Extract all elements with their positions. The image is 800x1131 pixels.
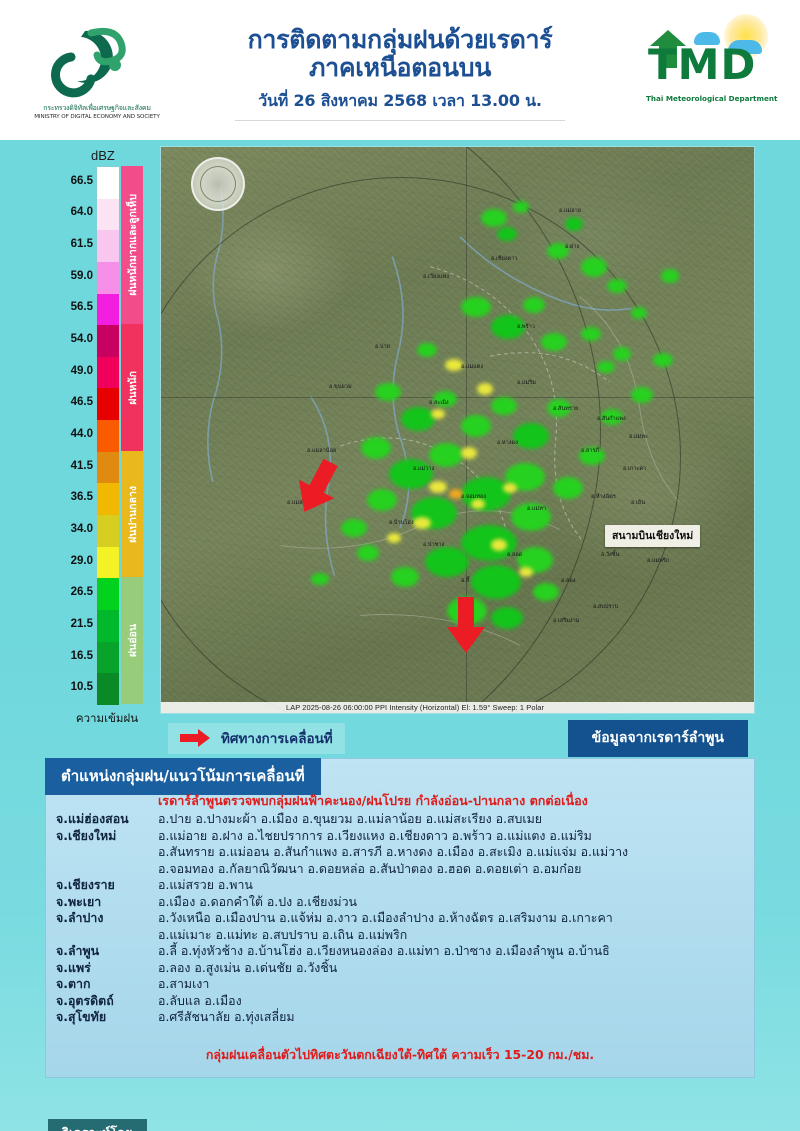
dbz-band xyxy=(97,547,119,579)
page-title-line1: การติดตามกลุ่มฝนด้วยเรดาร์ xyxy=(185,26,615,54)
district-line: อ.แม่เมาะ อ.แม่ทะ อ.สบปราบ อ.เถิน อ.แม่พ… xyxy=(158,927,613,944)
map-place-label: อ.สันทราย xyxy=(553,405,578,413)
dbz-unit-label: dBZ xyxy=(91,148,115,163)
map-place-label: อ.จอมทอง xyxy=(461,493,486,501)
dbz-tick: 29.0 xyxy=(55,555,93,567)
district-line: อ.ลับแล อ.เมือง xyxy=(158,993,242,1010)
dbz-band xyxy=(97,642,119,674)
rain-category-label: ฝนปานกลาง xyxy=(124,486,141,543)
map-place-label: อ.ฮอด xyxy=(507,551,522,559)
map-place-label: อ.เกาะคา xyxy=(623,465,646,473)
echo-cell xyxy=(653,353,673,367)
echo-cell xyxy=(519,567,533,577)
red-arrow-icon xyxy=(178,728,212,748)
echo-cell xyxy=(497,227,517,241)
map-place-label: อ.เถิน xyxy=(631,499,645,507)
dbz-tick: 64.0 xyxy=(55,206,93,218)
mdes-logo-caption: กระทรวงดิจิทัลเพื่อเศรษฐกิจและสังคม MINI… xyxy=(34,103,160,120)
echo-cell xyxy=(391,567,419,587)
echo-cell xyxy=(581,327,601,341)
province-name: จ.แพร่ xyxy=(54,960,158,977)
district-line: อ.วังเหนือ อ.เมืองปาน อ.แจ้ห่ม อ.งาว อ.เ… xyxy=(158,910,613,927)
province-row: จ.แพร่อ.ลอง อ.สูงเม่น อ.เด่นชัย อ.วังชิ้… xyxy=(54,960,748,977)
echo-cell xyxy=(429,481,447,493)
tmd-subtitle: Thai Meteorological Department xyxy=(646,94,777,103)
dbz-tick: 61.5 xyxy=(55,238,93,250)
district-list: อ.ลับแล อ.เมือง xyxy=(158,993,242,1010)
map-place-label: อ.แม่ทะ xyxy=(629,433,648,441)
tmd-logo: TMD Thai Meteorological Department xyxy=(642,14,782,126)
map-place-label: อ.ปาย xyxy=(375,343,390,351)
map-place-label: อ.แม่ริม xyxy=(517,379,536,387)
echo-cell xyxy=(513,201,529,213)
page-datetime: วันที่ 26 สิงหาคม 2568 เวลา 13.00 น. xyxy=(185,89,615,114)
district-list: อ.สามเงา xyxy=(158,976,209,993)
district-list: อ.แม่สรวย อ.พาน xyxy=(158,877,253,894)
echo-cell xyxy=(541,333,567,351)
province-district-table: จ.แม่ฮ่องสอนอ.ปาย อ.ปางมะผ้า อ.เมือง อ.ข… xyxy=(54,811,748,1026)
echo-cell xyxy=(461,297,491,317)
detail-panel-title: ตำแหน่งกลุ่มฝน/แนวโน้มการเคลื่อนที่ xyxy=(45,758,321,795)
dbz-tick: 41.5 xyxy=(55,460,93,472)
district-list: อ.ศรีสัชนาลัย อ.ทุ่งเสลี่ยม xyxy=(158,1009,295,1026)
district-list: อ.วังเหนือ อ.เมืองปาน อ.แจ้ห่ม อ.งาว อ.เ… xyxy=(158,910,613,943)
echo-cell xyxy=(613,347,631,361)
mdes-logo-mark xyxy=(51,23,143,101)
map-place-label: อ.วังชิ้น xyxy=(601,551,619,559)
dbz-tick: 59.0 xyxy=(55,270,93,282)
echo-cell xyxy=(631,307,647,319)
map-place-label: อ.ป่าซาง xyxy=(423,541,444,549)
echo-cell xyxy=(477,383,493,395)
echo-cell xyxy=(387,533,401,543)
echo-cell xyxy=(429,443,463,467)
map-place-label: อ.ลอง xyxy=(561,577,575,585)
province-row: จ.สุโขทัยอ.ศรีสัชนาลัย อ.ทุ่งเสลี่ยม xyxy=(54,1009,748,1026)
echo-cell xyxy=(367,489,397,511)
movement-summary: กลุ่มฝนเคลื่อนตัวไปทิศตะวันตกเฉียงใต้-ทิ… xyxy=(46,1046,754,1065)
echo-cell xyxy=(631,387,653,403)
district-line: อ.สันทราย อ.แม่ออน อ.สันกำแพง อ.สารภี อ.… xyxy=(158,844,628,861)
rain-category-label: ฝนหนักมากและลูกเห็บ xyxy=(124,194,141,296)
echo-cell xyxy=(431,409,445,419)
echo-cell xyxy=(357,545,379,561)
echo-cell xyxy=(503,483,517,493)
echo-cell xyxy=(661,269,679,283)
direction-legend-label: ทิศทางการเคลื่อนที่ xyxy=(221,727,333,749)
dbz-tick: 26.5 xyxy=(55,586,93,598)
district-line: อ.จอมทอง อ.กัลยาณิวัฒนา อ.ดอยหล่อ อ.สันป… xyxy=(158,861,628,878)
province-row: จ.ลำปางอ.วังเหนือ อ.เมืองปาน อ.แจ้ห่ม อ.… xyxy=(54,910,748,943)
map-place-label: อ.ฝาง xyxy=(565,243,579,251)
echo-cell xyxy=(425,547,469,577)
province-name: จ.อุตรดิตถ์ xyxy=(54,993,158,1010)
mdes-logo: กระทรวงดิจิทัลเพื่อเศรษฐกิจและสังคม MINI… xyxy=(22,12,172,130)
echo-cell xyxy=(311,573,329,585)
airport-label: สนามบินเชียงใหม่ xyxy=(605,525,700,547)
map-place-label: อ.แม่อาย xyxy=(559,207,581,215)
movement-arrow-southwest-icon xyxy=(289,457,345,519)
echo-cell xyxy=(513,423,549,449)
province-name: จ.เชียงราย xyxy=(54,877,158,894)
dbz-band xyxy=(97,673,119,705)
province-name: จ.แม่ฮ่องสอน xyxy=(54,811,158,828)
echo-cell xyxy=(553,477,583,499)
analyst-chip-label: วิเคราะห์โดย xyxy=(48,1119,147,1131)
dbz-band xyxy=(97,262,119,294)
rain-category-label: ฝนอ่อน xyxy=(124,624,141,657)
dbz-tick: 54.0 xyxy=(55,333,93,345)
rain-category: ฝนปานกลาง xyxy=(121,451,143,578)
district-line: อ.ลอง อ.สูงเม่น อ.เด่นชัย อ.วังชิ้น xyxy=(158,960,337,977)
echo-cell xyxy=(461,415,491,437)
echo-cell xyxy=(565,217,583,231)
dbz-tick: 10.5 xyxy=(55,681,93,693)
echo-cell xyxy=(461,447,477,459)
echo-cell xyxy=(523,297,545,313)
dbz-band xyxy=(97,357,119,389)
map-place-label: อ.สะเมิง xyxy=(429,399,449,407)
district-list: อ.ปาย อ.ปางมะผ้า อ.เมือง อ.ขุนยวม อ.แม่ล… xyxy=(158,811,542,828)
dbz-tick: 66.5 xyxy=(55,175,93,187)
province-row: จ.แม่ฮ่องสอนอ.ปาย อ.ปางมะผ้า อ.เมือง อ.ข… xyxy=(54,811,748,828)
rain-category: ฝนอ่อน xyxy=(121,577,143,704)
district-list: อ.แม่อาย อ.ฝาง อ.ไชยปราการ อ.เวียงแหง อ.… xyxy=(158,828,628,878)
province-name: จ.สุโขทัย xyxy=(54,1009,158,1026)
map-place-label: อ.เชียงดาว xyxy=(491,255,518,263)
dbz-band xyxy=(97,578,119,610)
tmd-seal-watermark-icon xyxy=(191,157,245,211)
dbz-tick: 36.5 xyxy=(55,491,93,503)
echo-cell xyxy=(481,209,507,227)
echo-cell xyxy=(491,539,507,551)
province-row: จ.ตากอ.สามเงา xyxy=(54,976,748,993)
dbz-band xyxy=(97,388,119,420)
dbz-band xyxy=(97,610,119,642)
echo-cell xyxy=(491,397,517,415)
content-body: dBZ 66.564.061.559.056.554.049.046.544.0… xyxy=(0,140,800,1131)
radar-status-bar: LAP 2025-08-26 06:00:00 PPI Intensity (H… xyxy=(161,702,754,713)
district-list: อ.ลี้ อ.ทุ่งหัวช้าง อ.บ้านโฮ่ง อ.เวียงหน… xyxy=(158,943,610,960)
dbz-band xyxy=(97,230,119,262)
echo-cell xyxy=(401,407,435,431)
dbz-tick: 56.5 xyxy=(55,301,93,313)
echo-cell xyxy=(607,279,627,293)
district-list: อ.ลอง อ.สูงเม่น อ.เด่นชัย อ.วังชิ้น xyxy=(158,960,337,977)
map-place-label: อ.สารภี xyxy=(581,447,599,455)
tmd-letters: TMD xyxy=(648,44,756,86)
district-line: อ.ศรีสัชนาลัย อ.ทุ่งเสลี่ยม xyxy=(158,1009,295,1026)
dbz-band xyxy=(97,515,119,547)
district-list: อ.เมือง อ.ดอกคำใต้ อ.ปง อ.เชียงม่วน xyxy=(158,894,357,911)
dbz-band xyxy=(97,420,119,452)
dbz-color-scale: dBZ 66.564.061.559.056.554.049.046.544.0… xyxy=(55,148,160,720)
province-row: จ.อุตรดิตถ์อ.ลับแล อ.เมือง xyxy=(54,993,748,1010)
map-place-label: อ.พร้าว xyxy=(517,323,535,331)
detail-lead-text: เรดาร์ลำพูนตรวจพบกลุ่มฝนฟ้าคะนอง/ฝนโปรย … xyxy=(158,791,588,811)
map-place-label: อ.แม่ลาน้อย xyxy=(307,447,336,455)
radar-image[interactable]: อ.ปายอ.เวียงแหงอ.เชียงดาวอ.ฝางอ.แม่อายอ.… xyxy=(160,146,755,714)
echo-cell xyxy=(491,607,523,629)
dbz-band xyxy=(97,199,119,231)
province-name: จ.ลำปาง xyxy=(54,910,158,927)
dbz-tick: 34.0 xyxy=(55,523,93,535)
echo-cell xyxy=(597,361,615,373)
map-place-label: อ.แม่ทา xyxy=(527,505,546,513)
map-place-label: อ.เสริมงาม xyxy=(553,617,580,625)
province-row: จ.เชียงใหม่อ.แม่อาย อ.ฝาง อ.ไชยปราการ อ.… xyxy=(54,828,748,878)
dbz-tick: 21.5 xyxy=(55,618,93,630)
rain-category-label: ฝนหนัก xyxy=(124,371,141,405)
echo-cell xyxy=(389,459,433,489)
echo-cell xyxy=(533,583,559,601)
echo-cell xyxy=(413,517,431,529)
province-name: จ.พะเยา xyxy=(54,894,158,911)
province-row: จ.เชียงรายอ.แม่สรวย อ.พาน xyxy=(54,877,748,894)
dbz-tick: 44.0 xyxy=(55,428,93,440)
district-line: อ.ลี้ อ.ทุ่งหัวช้าง อ.บ้านโฮ่ง อ.เวียงหน… xyxy=(158,943,610,960)
map-place-label: อ.สบปราบ xyxy=(593,603,618,611)
province-row: จ.ลำพูนอ.ลี้ อ.ทุ่งหัวช้าง อ.บ้านโฮ่ง อ.… xyxy=(54,943,748,960)
rain-detail-panel: ตำแหน่งกลุ่มฝน/แนวโน้มการเคลื่อนที่ เรดา… xyxy=(45,758,755,1078)
dbz-band xyxy=(97,294,119,326)
map-place-label: อ.ห้างฉัตร xyxy=(591,493,616,501)
province-name: จ.เชียงใหม่ xyxy=(54,828,158,845)
rain-category: ฝนหนัก xyxy=(121,324,143,451)
dbz-tick: 46.5 xyxy=(55,396,93,408)
map-place-label: อ.สันกำแพง xyxy=(597,415,626,423)
map-place-label: อ.บ้านโฮ่ง xyxy=(389,519,414,527)
direction-legend: ทิศทางการเคลื่อนที่ xyxy=(168,723,345,754)
dbz-tick: 49.0 xyxy=(55,365,93,377)
echo-cell xyxy=(375,383,401,401)
radar-section: dBZ 66.564.061.559.056.554.049.046.544.0… xyxy=(0,140,800,720)
echo-cell xyxy=(471,565,521,599)
map-place-label: อ.ขุนยวม xyxy=(329,383,352,391)
district-line: อ.ปาย อ.ปางมะผ้า อ.เมือง อ.ขุนยวม อ.แม่ล… xyxy=(158,811,542,828)
legend-bar: ทิศทางการเคลื่อนที่ ข้อมูลจากเรดาร์ลำพูน xyxy=(0,720,800,756)
title-divider xyxy=(235,120,565,121)
header-title-block: การติดตามกลุ่มฝนด้วยเรดาร์ ภาคเหนือตอนบน… xyxy=(185,20,615,121)
district-line: อ.แม่สรวย อ.พาน xyxy=(158,877,253,894)
district-line: อ.สามเงา xyxy=(158,976,209,993)
district-line: อ.แม่อาย อ.ฝาง อ.ไชยปราการ อ.เวียงแหง อ.… xyxy=(158,828,628,845)
map-place-label: อ.ลี้ xyxy=(461,577,469,585)
echo-cell xyxy=(417,343,437,357)
radar-source-badge: ข้อมูลจากเรดาร์ลำพูน xyxy=(568,720,748,757)
province-name: จ.ตาก xyxy=(54,976,158,993)
movement-arrow-south-icon xyxy=(445,595,487,657)
page-title-line2: ภาคเหนือตอนบน xyxy=(185,54,615,82)
dbz-band xyxy=(97,167,119,199)
dbz-tick: 16.5 xyxy=(55,650,93,662)
province-name: จ.ลำพูน xyxy=(54,943,158,960)
dbz-band xyxy=(97,452,119,484)
map-place-label: อ.แม่แตง xyxy=(461,363,483,371)
map-place-label: อ.เวียงแหง xyxy=(423,273,449,281)
dbz-tick-labels: 66.564.061.559.056.554.049.046.544.041.5… xyxy=(55,166,93,704)
district-line: อ.เมือง อ.ดอกคำใต้ อ.ปง อ.เชียงม่วน xyxy=(158,894,357,911)
mdes-caption-en: MINISTRY OF DIGITAL ECONOMY AND SOCIETY xyxy=(34,114,160,120)
rain-category: ฝนหนักมากและลูกเห็บ xyxy=(121,166,143,324)
page-header: กระทรวงดิจิทัลเพื่อเศรษฐกิจและสังคม MINI… xyxy=(0,0,800,140)
dbz-band xyxy=(97,325,119,357)
echo-cell xyxy=(581,257,607,277)
mdes-caption-th: กระทรวงดิจิทัลเพื่อเศรษฐกิจและสังคม xyxy=(34,103,160,114)
map-place-label: อ.แม่พริก xyxy=(647,557,669,565)
dbz-gradient-bar xyxy=(96,166,120,704)
map-place-label: อ.หางดง xyxy=(497,439,518,447)
echo-cell xyxy=(361,437,391,459)
province-row: จ.พะเยาอ.เมือง อ.ดอกคำใต้ อ.ปง อ.เชียงม่… xyxy=(54,894,748,911)
rain-category-column: ฝนหนักมากและลูกเห็บฝนหนักฝนปานกลางฝนอ่อน xyxy=(121,166,143,704)
map-place-label: อ.แม่วาง xyxy=(413,465,434,473)
echo-cell xyxy=(341,519,367,537)
dbz-band xyxy=(97,483,119,515)
